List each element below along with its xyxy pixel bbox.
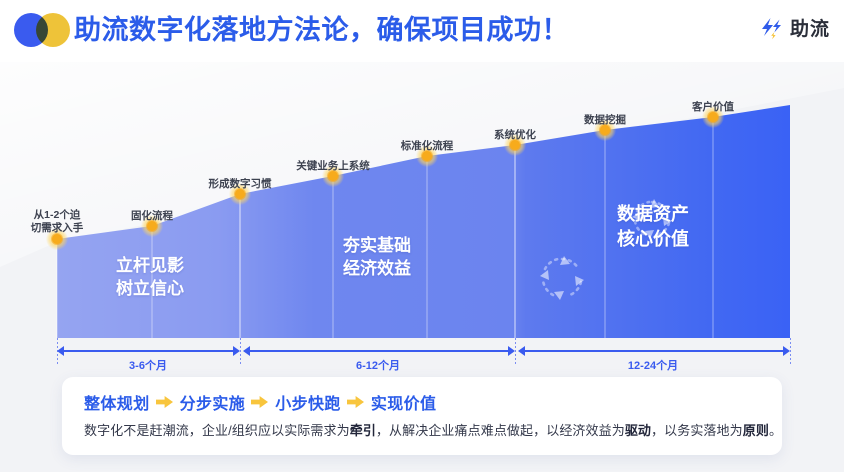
flow-step-2: 分步实施 <box>180 390 246 414</box>
slide-canvas: 助流数字化落地方法论，确保项目成功！ 助流 <box>0 0 844 472</box>
flow-step-4: 实现价值 <box>371 390 437 414</box>
milestone-label-6: 系统优化 <box>494 129 536 142</box>
milestone-label-1: 从1-2个迫 切需求入手 <box>26 209 88 235</box>
milestone-label-2: 固化流程 <box>131 210 173 223</box>
principle-part-3: ，以务实落地为 <box>651 423 743 438</box>
band-3-line-1: 数据资产 <box>591 202 715 227</box>
summary-card: 整体规划 分步实施 小步快跑 实现价值 数字化不是赶潮流，企业/组织应以实际需求… <box>62 377 782 455</box>
timeline-arrow-left-icon <box>57 346 64 356</box>
milestone-label-1-line-1: 从1-2个迫 <box>26 209 88 222</box>
page-title: 助流数字化落地方法论，确保项目成功！ <box>74 9 569 51</box>
timeline-arrow-right-icon <box>233 346 240 356</box>
stage-band-label-1: 立杆见影 树立信心 <box>90 254 210 300</box>
brand-logo-icon <box>14 13 80 47</box>
timeline-tick <box>790 338 791 364</box>
arrow-right-icon <box>347 395 365 409</box>
band-2-line-2: 经济效益 <box>317 257 437 280</box>
timeline-arrow-left-icon <box>243 346 250 356</box>
principle-part-1: 数字化不是赶潮流，企业/组织应以实际需求为 <box>84 423 350 438</box>
timeline-tick <box>240 338 241 364</box>
milestone-label-5: 标准化流程 <box>401 140 454 153</box>
corporate-name: 助流 <box>790 16 830 44</box>
timeline-segment-1-line <box>62 350 234 352</box>
timeline-label-1: 3-6个月 <box>129 357 167 373</box>
stage-band-label-2: 夯实基础 经济效益 <box>317 234 437 280</box>
header-bar: 助流数字化落地方法论，确保项目成功！ 助流 <box>0 0 844 62</box>
principle-emphasis-3: 原则 <box>743 423 769 438</box>
milestone-label-3: 形成数字习惯 <box>209 178 272 191</box>
milestone-label-4: 关键业务上系统 <box>296 160 370 173</box>
flow-steps-row: 整体规划 分步实施 小步快跑 实现价值 <box>84 389 436 415</box>
arrow-right-icon <box>156 395 174 409</box>
principle-emphasis-2: 驱动 <box>625 423 651 438</box>
timeline-segment-2-line <box>248 350 508 352</box>
band-3-line-2: 核心价值 <box>591 227 715 252</box>
milestone-label-8: 客户价值 <box>692 101 734 114</box>
flow-step-3: 小步快跑 <box>275 390 341 414</box>
timeline-label-3: 12-24个月 <box>628 357 678 373</box>
growth-ramp-chart: 立杆见影 树立信心 夯实基础 经济效益 数据资产 核心价值 从1-2个迫 切需求… <box>0 62 844 347</box>
milestone-label-7: 数据挖掘 <box>584 114 626 127</box>
flow-step-1: 整体规划 <box>84 390 150 414</box>
timeline-segment-3-line <box>523 350 783 352</box>
principle-part-2: ，从解决企业痛点难点做起，以经济效益为 <box>376 423 625 438</box>
timeline-label-2: 6-12个月 <box>356 357 400 373</box>
milestone-label-1-line-2: 切需求入手 <box>26 222 88 235</box>
timeline-axis: 3-6个月 6-12个月 12-24个月 <box>0 338 844 370</box>
timeline-tick <box>515 338 516 364</box>
timeline-arrow-right-icon <box>508 346 515 356</box>
lightning-bolt-icon <box>757 16 785 44</box>
principle-emphasis-1: 牵引 <box>350 423 376 438</box>
logo-circle-gold <box>36 13 70 47</box>
timeline-arrow-left-icon <box>518 346 525 356</box>
timeline-arrow-right-icon <box>783 346 790 356</box>
corporate-logo: 助流 <box>757 14 830 46</box>
band-2-line-1: 夯实基础 <box>317 234 437 257</box>
band-1-line-2: 树立信心 <box>90 277 210 300</box>
band-1-line-1: 立杆见影 <box>90 254 210 277</box>
principle-statement: 数字化不是赶潮流，企业/组织应以实际需求为牵引，从解决企业痛点难点做起，以经济效… <box>84 421 766 441</box>
stage-band-label-3: 数据资产 核心价值 <box>591 202 715 252</box>
node-dot-icon <box>52 234 62 244</box>
arrow-right-icon <box>251 395 269 409</box>
principle-part-4: 。 <box>769 423 782 438</box>
